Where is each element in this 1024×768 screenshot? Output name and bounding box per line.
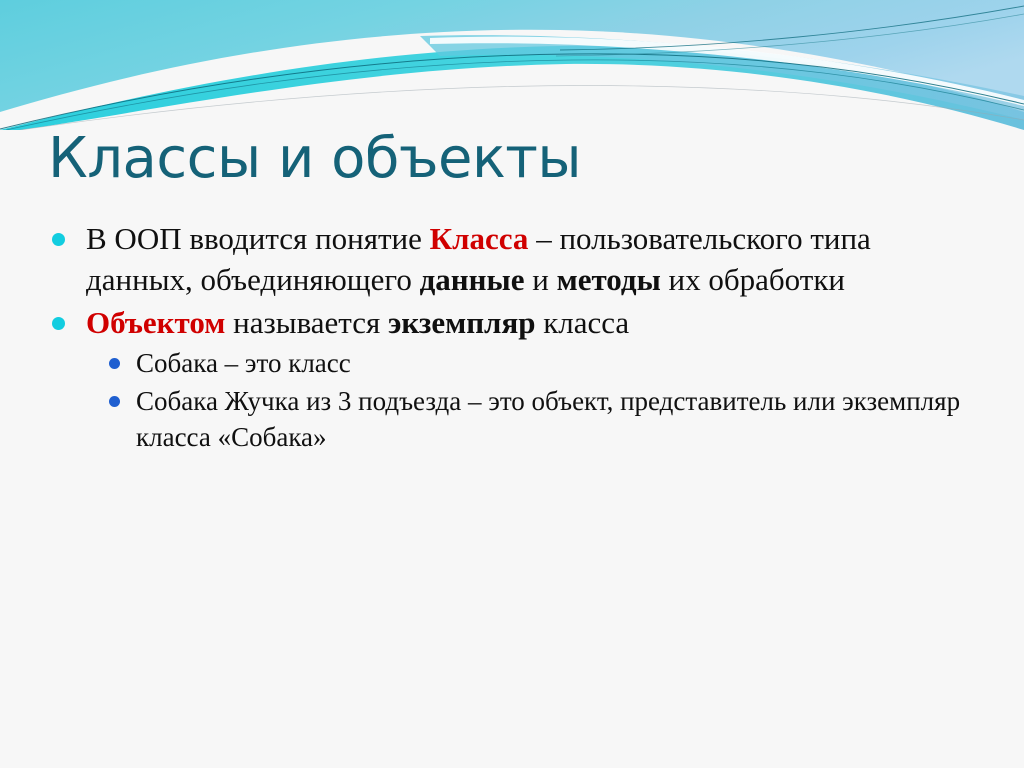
bullet-dot-icon: [52, 233, 65, 246]
bullet-text: В ООП вводится понятие Класса – пользова…: [86, 218, 982, 300]
bullet-run-emphasis: методы: [557, 262, 661, 297]
sub-bullet-text: Собака – это класс: [136, 345, 982, 381]
bullet-marker: [52, 302, 86, 330]
bullet-run: В ООП вводится понятие: [86, 221, 430, 256]
bullet-run-emphasis: Объектом: [86, 305, 225, 340]
sub-bullet-text: Собака Жучка из 3 подъезда – это объект,…: [136, 383, 982, 455]
sub-bullet-marker: [109, 345, 136, 369]
slide-body: В ООП вводится понятие Класса – пользова…: [52, 218, 982, 457]
wave-svg: [0, 0, 1024, 130]
bullet-marker: [52, 218, 86, 246]
bullet-dot-icon: [109, 396, 120, 407]
bullet-run: называется: [225, 305, 388, 340]
bullet-run-emphasis: данные: [420, 262, 525, 297]
presentation-slide: Классы и объекты В ООП вводится понятие …: [0, 0, 1024, 768]
bullet-run: и: [525, 262, 557, 297]
top-wave-decoration: [0, 0, 1024, 130]
bullet-dot-icon: [109, 358, 120, 369]
bullet-text: Объектом называется экземпляр класса: [86, 302, 982, 343]
bullet-run: класса: [535, 305, 629, 340]
bullet-item: В ООП вводится понятие Класса – пользова…: [52, 218, 982, 300]
bullet-item: Объектом называется экземпляр класса: [52, 302, 982, 343]
sub-bullet-group: Собака – это класс Собака Жучка из 3 под…: [52, 345, 982, 455]
slide-title: Классы и объекты: [48, 128, 948, 190]
bullet-dot-icon: [52, 317, 65, 330]
bullet-run-emphasis: Класса: [430, 221, 529, 256]
sub-bullet-item: Собака – это класс: [109, 345, 982, 381]
sub-bullet-item: Собака Жучка из 3 подъезда – это объект,…: [109, 383, 982, 455]
bullet-run: их обработки: [661, 262, 845, 297]
sub-bullet-marker: [109, 383, 136, 407]
bullet-run-emphasis: экземпляр: [388, 305, 535, 340]
